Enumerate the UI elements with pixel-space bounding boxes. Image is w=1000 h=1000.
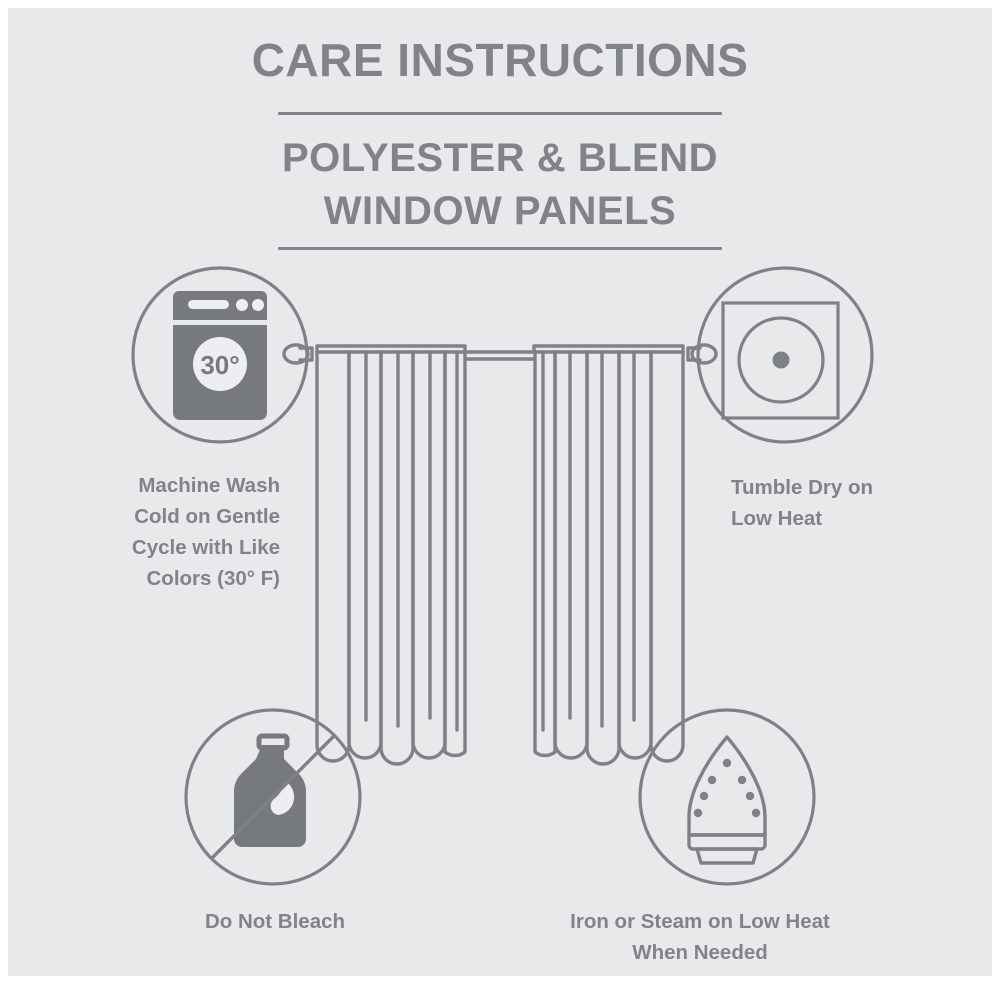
caption-tumble-dry: Tumble Dry on Low Heat [731,472,961,534]
page-subtitle: POLYESTER & BLEND WINDOW PANELS [0,132,1000,238]
machine-wash-badge: 30° [133,268,307,442]
caption-iron-steam: Iron or Steam on Low Heat When Needed [540,906,860,968]
curtain-panels-illustration [284,345,716,764]
do-not-bleach-badge [186,710,360,884]
wash-temperature-label: 30° [200,350,239,380]
tumble-dry-icon [723,303,838,418]
caption-do-not-bleach: Do Not Bleach [135,906,415,937]
no-bleach-icon [212,736,334,858]
title-divider [278,112,722,115]
subtitle-line-2: WINDOW PANELS [0,185,1000,238]
caption-machine-wash: Machine Wash Cold on Gentle Cycle with L… [60,470,280,595]
subtitle-divider [278,247,722,250]
page-title: CARE INSTRUCTIONS [0,36,1000,84]
subtitle-line-1: POLYESTER & BLEND [282,136,718,180]
tumble-dry-badge [698,268,872,442]
curtain-panel-right [534,346,683,764]
care-instructions-infographic: 30° [0,0,1000,1000]
iron-badge [640,710,814,884]
rod-finial-right [688,345,716,363]
iron-icon [689,737,765,863]
curtain-panel-left [317,346,465,764]
washing-machine-icon: 30° [173,291,267,420]
